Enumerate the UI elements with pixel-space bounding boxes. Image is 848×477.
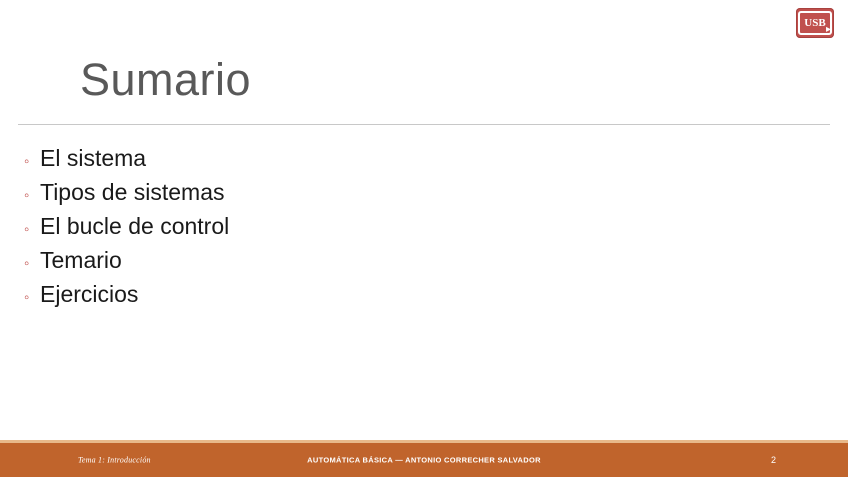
page-title: Sumario — [80, 54, 251, 106]
list-item-label: Temario — [40, 248, 122, 272]
bullet-marker-icon: ◦ — [24, 256, 40, 271]
list-item-label: Tipos de sistemas — [40, 180, 225, 204]
list-item-label: El sistema — [40, 146, 146, 170]
footer-topic: Tema 1: Introducción — [78, 456, 151, 465]
title-divider — [18, 124, 830, 125]
list-item: ◦ El sistema — [24, 146, 808, 170]
list-item: ◦ Ejercicios — [24, 282, 808, 306]
arrow-icon: ▸ — [826, 25, 831, 35]
bullet-marker-icon: ◦ — [24, 154, 40, 169]
page-number: 2 — [771, 455, 776, 465]
list-item: ◦ Temario — [24, 248, 808, 272]
bullet-marker-icon: ◦ — [24, 222, 40, 237]
usb-logo: USB ▸ — [796, 8, 834, 38]
slide: USB ▸ Sumario ◦ El sistema ◦ Tipos de si… — [0, 0, 848, 477]
bullet-marker-icon: ◦ — [24, 188, 40, 203]
footer-bar: Tema 1: Introducción AUTOMÁTICA BÁSICA —… — [0, 443, 848, 477]
bullet-marker-icon: ◦ — [24, 290, 40, 305]
list-item: ◦ El bucle de control — [24, 214, 808, 238]
footer-course: AUTOMÁTICA BÁSICA — ANTONIO CORRECHER SA… — [307, 456, 541, 465]
list-item-label: Ejercicios — [40, 282, 138, 306]
list-item-label: El bucle de control — [40, 214, 229, 238]
list-item: ◦ Tipos de sistemas — [24, 180, 808, 204]
bullet-list: ◦ El sistema ◦ Tipos de sistemas ◦ El bu… — [24, 146, 808, 316]
